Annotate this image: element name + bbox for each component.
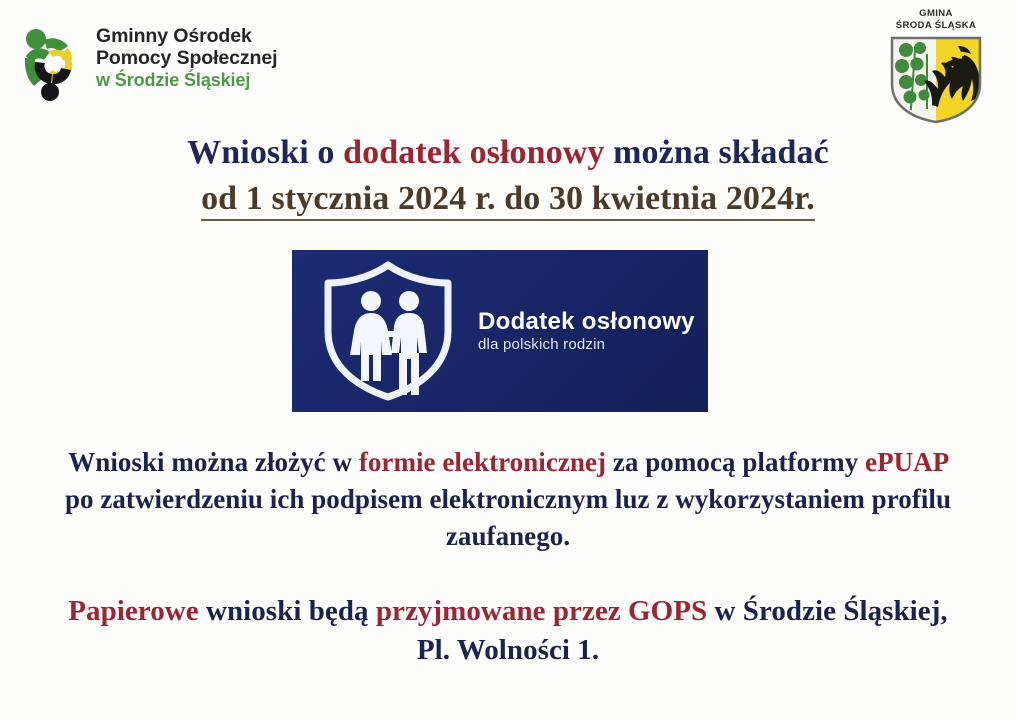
headline-line1-part1: Wnioski o: [187, 134, 343, 171]
paper-highlight-papierowe: Papierowe: [68, 595, 198, 627]
electronic-part1: Wnioski można złożyć w: [68, 447, 359, 477]
banner-title: Dodatek osłonowy: [478, 309, 695, 334]
dodatek-oslonowy-banner: Dodatek osłonowy dla polskich rodzin: [292, 250, 708, 412]
poster-root: Gminny Ośrodek Pomocy Społecznej w Środz…: [0, 0, 1016, 720]
headline-block: Wnioski o dodatek osłonowy można składać…: [0, 134, 1016, 218]
electronic-highlight-epuap: ePUAP: [865, 447, 948, 477]
gops-logo-line1: Gminny Ośrodek: [96, 26, 277, 48]
crest-caption-line2: ŚRODA ŚLĄSKA: [880, 20, 992, 32]
electronic-part2: za pomocą platformy: [606, 447, 865, 477]
gops-logo: Gminny Ośrodek Pomocy Społecznej w Środz…: [22, 26, 277, 104]
headline-line2: od 1 stycznia 2024 r. do 30 kwietnia 202…: [0, 180, 1016, 218]
headline-line1-highlight: dodatek osłonowy: [343, 134, 604, 171]
electronic-highlight-forma: formie elektronicznej: [359, 447, 606, 477]
crest-caption-line1: GMINA: [880, 8, 992, 20]
electronic-part3: po zatwierdzeniu ich podpisem elektronic…: [65, 484, 951, 551]
banner-text-block: Dodatek osłonowy dla polskich rodzin: [478, 309, 695, 353]
gops-logo-line3: w Środzie Śląskiej: [96, 70, 277, 90]
headline-line1-part2: można składać: [605, 134, 829, 171]
headline-line1: Wnioski o dodatek osłonowy można składać: [0, 134, 1016, 172]
paper-highlight-gops: przyjmowane przez GOPS: [376, 595, 707, 627]
gmina-sroda-slaska-coat-of-arms-icon: [886, 34, 986, 126]
paper-part1: wnioski będą: [199, 595, 376, 627]
paper-submission-paragraph: Papierowe wnioski będą przyjmowane przez…: [60, 592, 956, 669]
gops-logo-line2: Pomocy Społecznej: [96, 48, 277, 70]
gmina-crest: GMINA ŚRODA ŚLĄSKA: [880, 8, 992, 126]
shield-family-icon: [314, 257, 462, 405]
electronic-submission-paragraph: Wnioski można złożyć w formie elektronic…: [60, 444, 956, 555]
headline-line2-text: od 1 stycznia 2024 r. do 30 kwietnia 202…: [201, 180, 815, 221]
gops-people-circle-logo-icon: [22, 26, 86, 104]
gops-logo-text: Gminny Ośrodek Pomocy Społecznej w Środz…: [96, 26, 277, 90]
banner-subtitle: dla polskich rodzin: [478, 336, 695, 353]
poster-header: Gminny Ośrodek Pomocy Społecznej w Środz…: [0, 0, 1016, 122]
